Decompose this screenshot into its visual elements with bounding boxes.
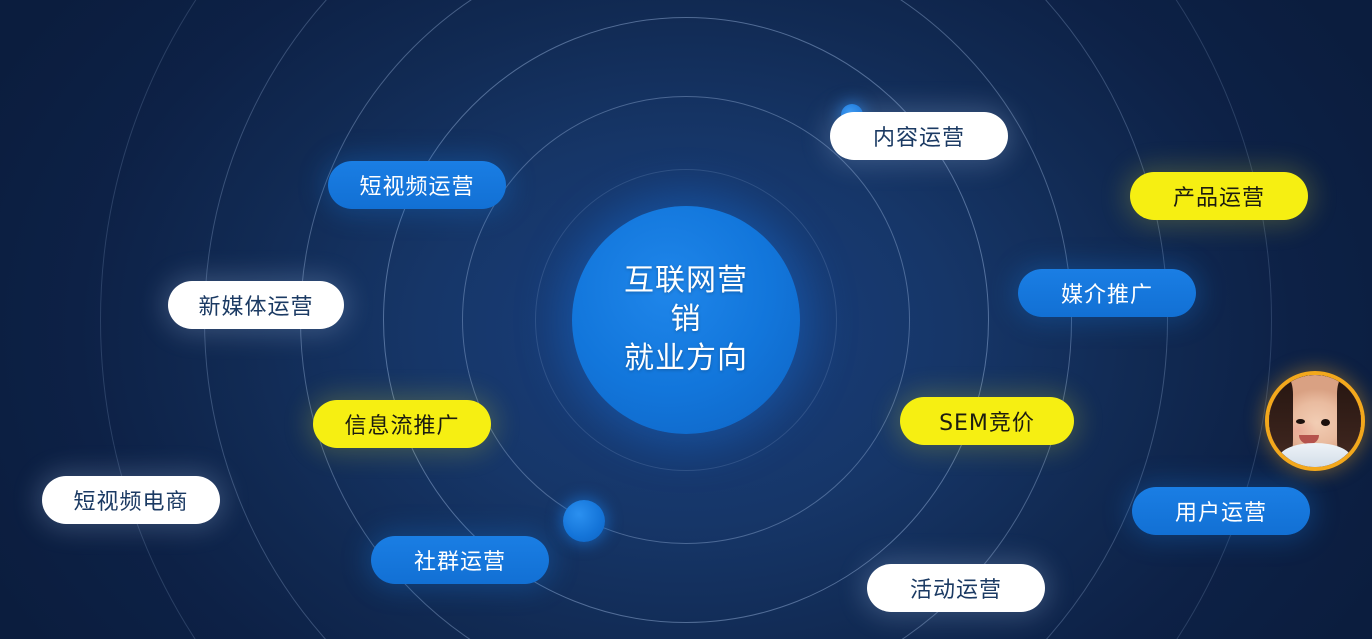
- node-pill[interactable]: 产品运营: [1130, 172, 1308, 220]
- node-pill-label: 短视频电商: [73, 484, 188, 516]
- orbit-dot: [563, 500, 605, 542]
- node-pill-label: 社群运营: [414, 544, 506, 576]
- node-pill-label: 内容运营: [873, 120, 965, 152]
- node-pill[interactable]: 信息流推广: [313, 400, 491, 448]
- infographic-canvas: 互联网营 销 就业方向 短视频运营内容运营产品运营新媒体运营媒介推广信息流推广S…: [0, 0, 1372, 639]
- center-hub-label: 互联网营 销 就业方向: [624, 261, 748, 378]
- avatar-eye-right: [1321, 419, 1330, 426]
- node-pill-label: 媒介推广: [1061, 277, 1153, 309]
- node-pill[interactable]: 媒介推广: [1018, 269, 1196, 317]
- node-pill-label: 信息流推广: [344, 408, 459, 440]
- node-pill-label: 活动运营: [910, 572, 1002, 604]
- node-pill[interactable]: 社群运营: [371, 536, 549, 584]
- node-pill[interactable]: SEM竞价: [900, 397, 1074, 445]
- node-pill[interactable]: 内容运营: [830, 112, 1008, 160]
- center-hub: 互联网营 销 就业方向: [572, 206, 800, 434]
- node-pill[interactable]: 短视频电商: [42, 476, 220, 524]
- node-pill-label: 新媒体运营: [198, 289, 313, 321]
- node-pill[interactable]: 新媒体运营: [168, 281, 344, 329]
- node-pill[interactable]: 短视频运营: [328, 161, 506, 209]
- avatar-collar: [1279, 443, 1351, 471]
- node-pill-label: 产品运营: [1173, 180, 1265, 212]
- node-pill-label: SEM竞价: [939, 405, 1035, 437]
- node-pill[interactable]: 活动运营: [867, 564, 1045, 612]
- node-pill-label: 用户运营: [1175, 495, 1267, 527]
- avatar-eye-left: [1296, 419, 1305, 424]
- avatar: [1265, 371, 1365, 471]
- node-pill[interactable]: 用户运营: [1132, 487, 1310, 535]
- node-pill-label: 短视频运营: [359, 169, 474, 201]
